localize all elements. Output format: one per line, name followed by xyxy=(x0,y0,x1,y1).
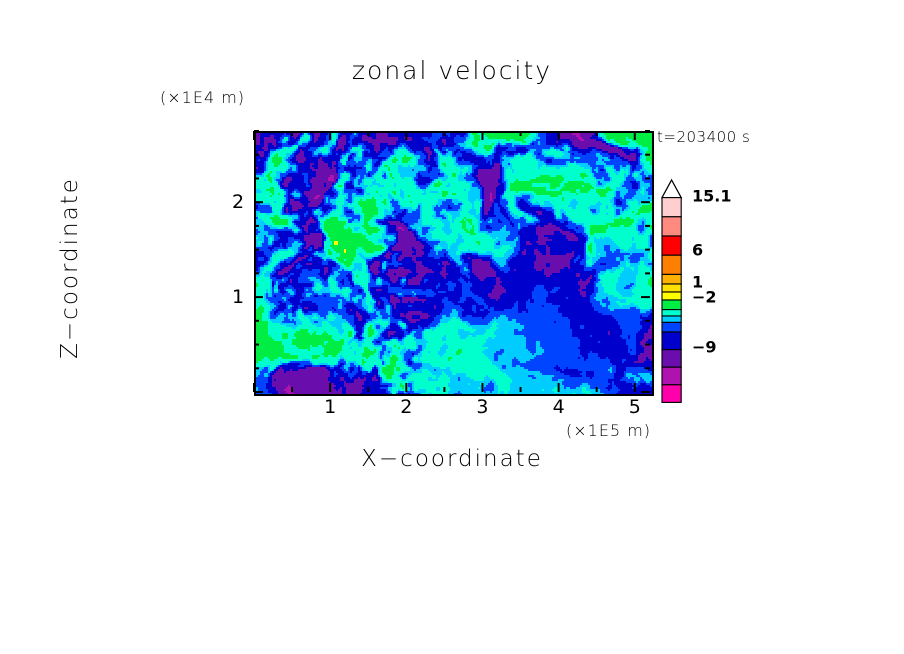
colorbar-label-1: 6 xyxy=(692,241,703,260)
x-tick-label-5: 5 xyxy=(629,396,641,418)
contour-plot-area xyxy=(254,131,654,396)
velocity-field-raster xyxy=(256,133,652,394)
colorbar xyxy=(662,166,686,394)
colorbar-band xyxy=(662,350,681,368)
chart-title: zonal velocity xyxy=(0,56,904,85)
x-tick-label-3: 3 xyxy=(476,396,488,418)
colorbar-band xyxy=(662,274,681,284)
x-axis-label: X−coordinate xyxy=(0,446,904,472)
z-tick-label-1: 1 xyxy=(232,286,244,308)
colorbar-band xyxy=(662,322,681,332)
colorbar-band xyxy=(662,367,681,385)
x-tick-label-4: 4 xyxy=(553,396,565,418)
colorbar-band xyxy=(662,310,681,316)
x-tick-label-2: 2 xyxy=(400,396,412,418)
colorbar-label-4: −9 xyxy=(692,338,717,357)
x-axis-unit-label: (×1E5 m) xyxy=(566,421,651,440)
z-tick-label-2: 2 xyxy=(232,191,244,213)
colorbar-band xyxy=(662,292,681,300)
colorbar-band xyxy=(662,236,681,255)
timestamp-annotation: t=203400 s xyxy=(657,128,750,146)
colorbar-label-3: −2 xyxy=(692,288,717,307)
colorbar-band xyxy=(662,332,681,350)
colorbar-band xyxy=(662,385,681,403)
colorbar-band xyxy=(662,217,681,236)
x-tick-label-1: 1 xyxy=(324,396,336,418)
colorbar-band xyxy=(662,316,681,322)
z-axis-unit-label: (×1E4 m) xyxy=(160,88,245,107)
colorbar-band xyxy=(662,300,681,310)
colorbar-band xyxy=(662,284,681,292)
colorbar-band xyxy=(662,198,681,217)
colorbar-arrow-tip xyxy=(662,180,681,198)
colorbar-label-0: 15.1 xyxy=(692,187,731,206)
colorbar-band xyxy=(662,255,681,274)
z-axis-label: Z−coordinate xyxy=(57,138,83,398)
